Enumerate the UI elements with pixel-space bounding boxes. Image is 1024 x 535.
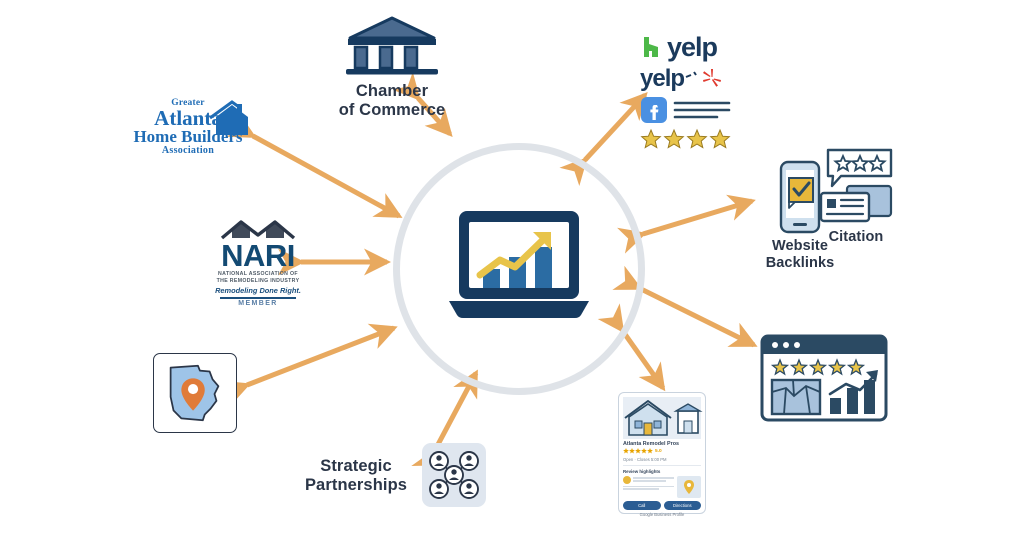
nari-sub-line1: NATIONAL ASSOCIATION OF bbox=[208, 271, 308, 278]
node-atlanta-home-builders[interactable]: Greater Atlanta Home Builders Associatio… bbox=[126, 98, 250, 178]
review-bubble-cards-icon bbox=[815, 148, 897, 226]
nari-sub-line2: THE REMODELING INDUSTRY bbox=[208, 278, 308, 285]
yelp-tick-icon bbox=[685, 70, 699, 84]
node-google-business-profile[interactable]: Atlanta Remodel Pros 5.0 Open · Closes 5… bbox=[618, 392, 706, 514]
node-georgia-service-area[interactable] bbox=[153, 353, 237, 433]
rating-stars-4 bbox=[640, 128, 736, 150]
georgia-state-map-pin-icon bbox=[154, 354, 236, 432]
node-analytics-rankings[interactable] bbox=[760, 334, 888, 422]
atlanta-line-bottom: Association bbox=[126, 145, 250, 156]
gbp-business-name: Atlanta Remodel Pros bbox=[623, 441, 701, 447]
arrow-analytics bbox=[639, 288, 754, 345]
nari-wordmark: NARI bbox=[208, 240, 308, 271]
gbp-section-title: Review highlights bbox=[623, 469, 701, 474]
people-network-icon bbox=[422, 443, 486, 507]
node-review-sites[interactable]: yelp yelp bbox=[640, 30, 748, 155]
citation-label: Citation bbox=[815, 229, 897, 246]
arrow-website-backlinks bbox=[643, 201, 752, 234]
houzz-icon bbox=[640, 35, 662, 59]
gbp-reviewer-avatar bbox=[623, 476, 631, 484]
gbp-call-button[interactable]: Call bbox=[623, 501, 661, 510]
diagram-canvas: Chamber of Commerce Greater Atlanta Home… bbox=[0, 0, 1024, 535]
facebook-icon bbox=[640, 96, 668, 124]
gbp-rating-value: 5.0 bbox=[655, 449, 662, 454]
arrow-georgia bbox=[247, 328, 394, 385]
post-lines-icon bbox=[673, 97, 731, 123]
browser-rankings-chart-icon bbox=[760, 334, 888, 422]
gbp-hero-image bbox=[623, 397, 701, 439]
arrow-atlanta-hba bbox=[253, 136, 399, 216]
partnerships-label-line2: Partnerships bbox=[300, 476, 412, 495]
laptop-growth-chart-icon bbox=[445, 205, 593, 330]
partnerships-label-line1: Strategic bbox=[300, 457, 412, 476]
gbp-hours: Open · Closes 5:00 PM bbox=[623, 457, 701, 462]
gbp-map-thumbnail bbox=[677, 476, 701, 498]
arrow-review-sites bbox=[585, 95, 645, 160]
gbp-directions-button[interactable]: Directions bbox=[664, 501, 702, 510]
gbp-footer: Google Business Profile bbox=[623, 512, 701, 517]
nari-member-label: MEMBER bbox=[208, 300, 308, 307]
backlinks-label-line2: Backlinks bbox=[755, 255, 845, 272]
yelp-burst-icon bbox=[702, 68, 722, 90]
arrow-google-business-profile bbox=[622, 330, 663, 388]
node-strategic-partnerships[interactable]: Strategic Partnerships bbox=[300, 443, 480, 513]
nari-roofline-icon bbox=[208, 218, 308, 240]
node-chamber-of-commerce[interactable]: Chamber of Commerce bbox=[322, 14, 462, 129]
bank-columns-icon bbox=[322, 14, 462, 76]
yelp-wordmark-1: yelp bbox=[667, 32, 717, 63]
node-nari[interactable]: NARI NATIONAL ASSOCIATION OF THE REMODEL… bbox=[208, 218, 308, 306]
gbp-rating-stars bbox=[623, 448, 653, 455]
yelp-wordmark-2: yelp bbox=[640, 65, 684, 93]
node-citation[interactable]: Citation bbox=[815, 148, 897, 250]
chamber-label-line1: Chamber bbox=[322, 82, 462, 101]
chamber-label-line2: of Commerce bbox=[322, 101, 462, 120]
nari-divider bbox=[220, 297, 296, 299]
nari-tagline: Remodeling Done Right. bbox=[208, 286, 308, 295]
house-roof-icon bbox=[208, 102, 254, 136]
